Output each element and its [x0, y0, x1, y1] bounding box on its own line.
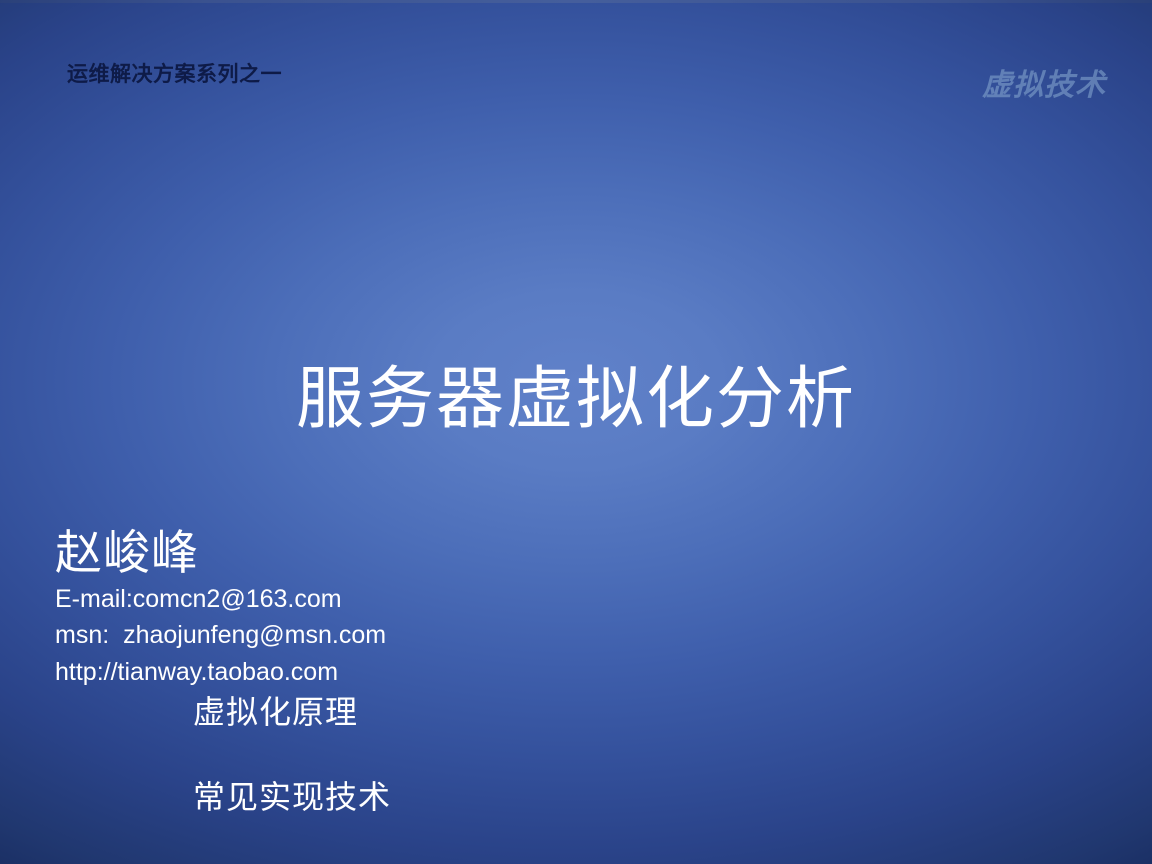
slide-title-container: 服务器虚拟化分析: [0, 315, 1152, 484]
agenda-item-virtualization-principles: 虚拟化原理: [193, 693, 893, 731]
contact-email: E-mail:comcn2@163.com: [55, 581, 675, 618]
contact-list: E-mail:comcn2@163.com msn: zhaojunfeng@m…: [55, 581, 675, 691]
slide-watermark-text: 虚拟技术: [982, 68, 1106, 104]
presentation-slide: 运维解决方案系列之一 虚拟技术 服务器虚拟化分析 赵峻峰 E-mail:comc…: [0, 0, 1152, 864]
agenda-block: 虚拟化原理 常见实现技术: [193, 693, 893, 817]
author-contact-block: 赵峻峰 E-mail:comcn2@163.com msn: zhaojunfe…: [55, 528, 675, 690]
agenda-item-common-technologies: 常见实现技术: [193, 778, 893, 816]
slide-kicker-text: 运维解决方案系列之一: [67, 61, 282, 86]
slide-title: 服务器虚拟化分析: [296, 361, 856, 439]
author-name: 赵峻峰: [55, 528, 675, 581]
contact-website: http://tianway.taobao.com: [55, 654, 675, 691]
contact-msn: msn: zhaojunfeng@msn.com: [55, 617, 675, 654]
slide-top-edge-accent: [0, 0, 1152, 3]
